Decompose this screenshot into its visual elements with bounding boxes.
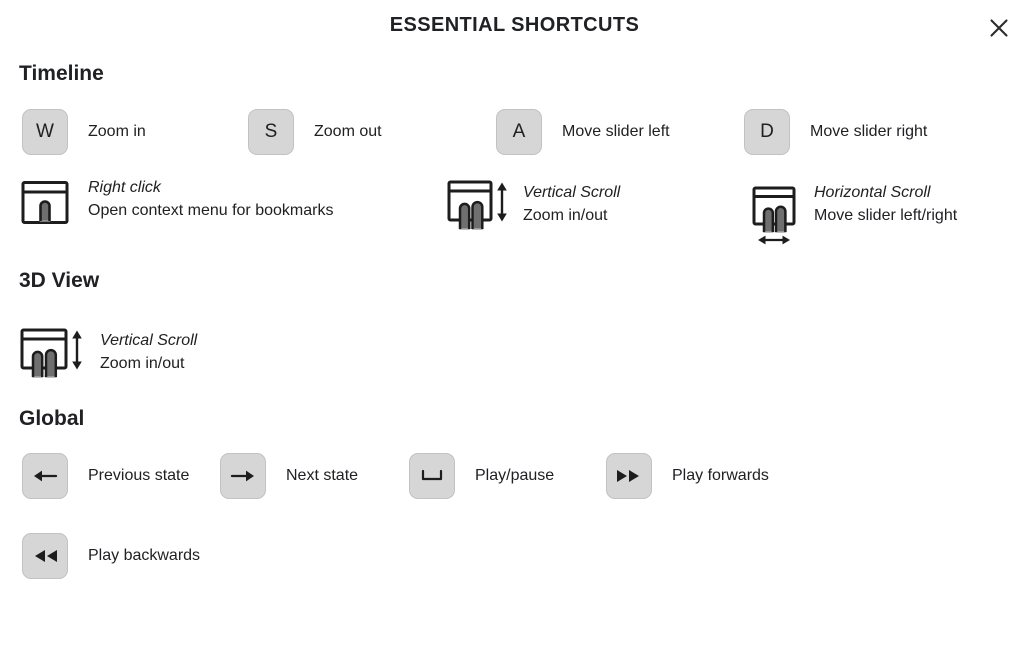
rewind-key[interactable] [22,533,68,579]
shortcut-text-block: Vertical Scroll Zoom in/out [523,182,620,227]
shortcut-action: Vertical Scroll [523,182,620,205]
fast-forward-key[interactable] [606,453,652,499]
shortcut-description: Open context menu for bookmarks [88,200,333,223]
shortcut-label: Zoom out [314,123,382,141]
shortcut-text-block: Vertical Scroll Zoom in/out [100,330,197,375]
rewind-icon [30,547,60,565]
shortcut-item-vertical-scroll[interactable]: Vertical Scroll Zoom in/out [445,177,750,235]
shortcut-action: Vertical Scroll [100,330,197,353]
shortcut-text-block: Right click Open context menu for bookma… [88,177,333,222]
spacebar-key[interactable] [409,453,455,499]
shortcut-item-right-click[interactable]: Right click Open context menu for bookma… [0,177,445,231]
shortcut-item-previous-state[interactable]: Previous state [0,453,220,499]
shortcut-label: Next state [286,467,358,485]
shortcut-description: Zoom in/out [523,205,620,228]
shortcut-label: Play forwards [672,467,769,485]
global-shortcut-row-2: Play backwards [0,533,1029,579]
shortcut-label: Previous state [88,467,189,485]
letter-a-key[interactable]: A [496,109,542,155]
close-icon [988,17,1010,39]
shortcut-description: Zoom in/out [100,353,197,376]
trackpad-vertical-scroll-icon [18,325,92,383]
arrow-right-key[interactable] [220,453,266,499]
shortcut-item-zoom-in[interactable]: W Zoom in [0,109,248,155]
shortcut-item-play-pause[interactable]: Play/pause [409,453,606,499]
shortcut-item-next-state[interactable]: Next state [220,453,409,499]
shortcut-label: Zoom in [88,123,146,141]
shortcut-item-play-forwards[interactable]: Play forwards [606,453,769,499]
trackpad-vertical-scroll-icon [445,177,517,235]
page-title: ESSENTIAL SHORTCUTS [0,14,1029,37]
shortcut-label: Move slider right [810,123,927,141]
trackpad-right-click-icon [20,177,74,231]
arrow-left-icon [32,466,58,486]
close-button[interactable] [983,12,1015,44]
shortcut-action: Horizontal Scroll [814,182,957,205]
trackpad-horizontal-scroll-icon [750,185,802,247]
shortcut-item-3d-vertical-scroll[interactable]: Vertical Scroll Zoom in/out [0,325,197,383]
letter-w-key[interactable]: W [22,109,68,155]
shortcut-item-horizontal-scroll[interactable]: Horizontal Scroll Move slider left/right [750,177,957,247]
shortcut-label: Play backwards [88,547,200,565]
shortcut-item-move-slider-left[interactable]: A Move slider left [496,109,744,155]
letter-s-key[interactable]: S [248,109,294,155]
section-heading-global: Global [19,407,1029,431]
shortcut-item-move-slider-right[interactable]: D Move slider right [744,109,927,155]
shortcut-label: Move slider left [562,123,670,141]
arrow-right-icon [230,466,256,486]
shortcut-action: Right click [88,177,333,200]
shortcut-label: Play/pause [475,467,554,485]
view3d-mouse-shortcut-row: Vertical Scroll Zoom in/out [0,325,1029,383]
timeline-key-shortcut-row: W Zoom in S Zoom out A Move slider left … [0,109,1029,155]
letter-d-key[interactable]: D [744,109,790,155]
shortcut-description: Move slider left/right [814,205,957,228]
global-shortcut-row-1: Previous state Next state Play/pause [0,453,1029,499]
fast-forward-icon [614,467,644,485]
section-heading-3d-view: 3D View [19,269,1029,293]
dialog-titlebar: ESSENTIAL SHORTCUTS [0,0,1029,56]
arrow-left-key[interactable] [22,453,68,499]
section-global: Global Previous state Next state [0,407,1029,579]
shortcut-item-play-backwards[interactable]: Play backwards [0,533,200,579]
section-timeline: Timeline W Zoom in S Zoom out A Move sli… [0,62,1029,247]
spacebar-icon [419,468,445,484]
section-3d-view: 3D View Vertical Scroll Zoom in/out [0,269,1029,383]
shortcut-item-zoom-out[interactable]: S Zoom out [248,109,496,155]
timeline-mouse-shortcut-row: Right click Open context menu for bookma… [0,177,1029,247]
shortcut-text-block: Horizontal Scroll Move slider left/right [814,182,957,227]
section-heading-timeline: Timeline [19,62,1029,86]
